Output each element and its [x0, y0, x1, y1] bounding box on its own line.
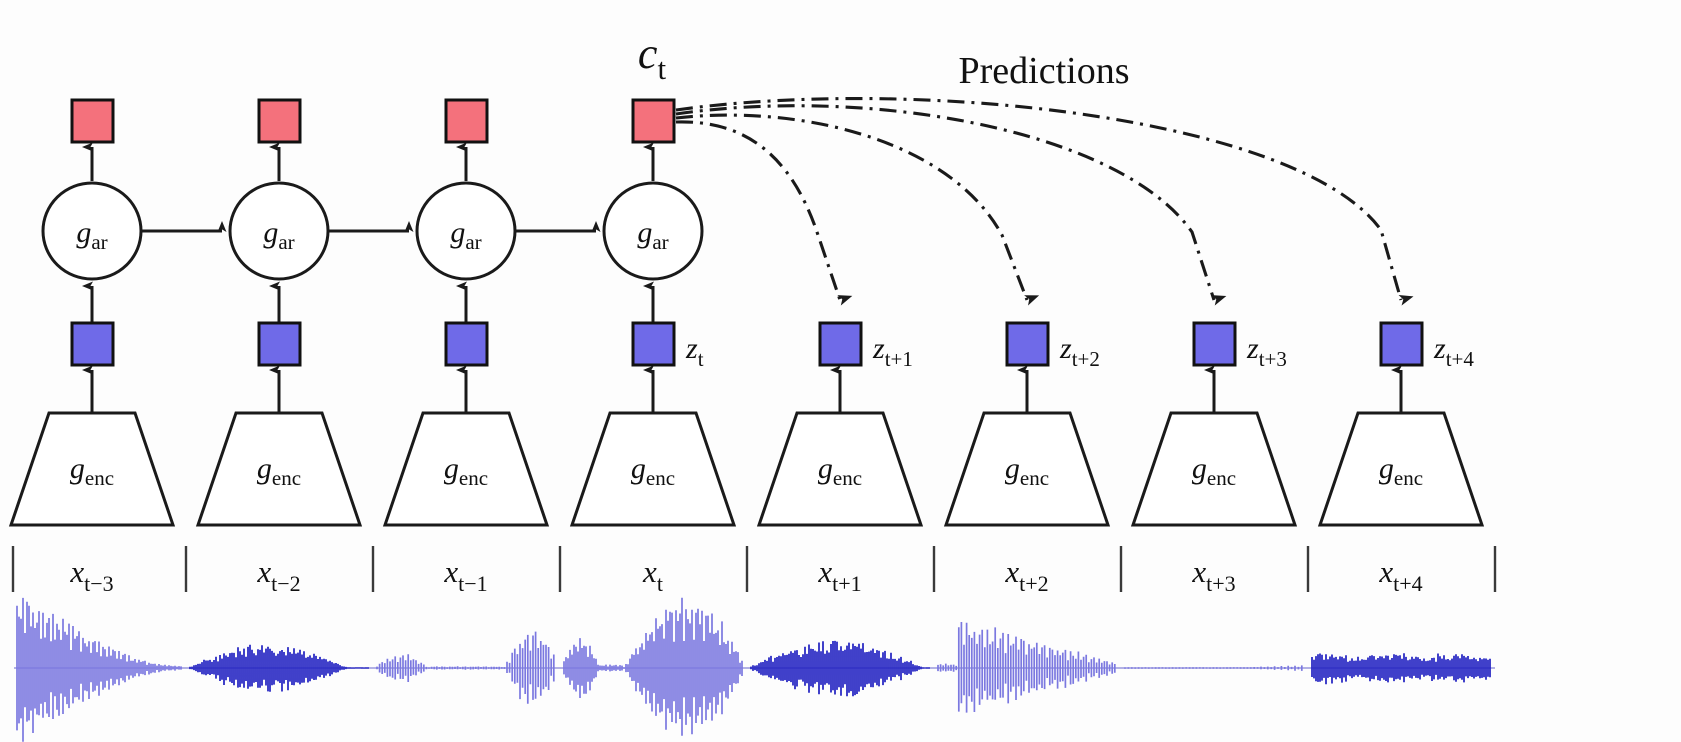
z-label: zt — [685, 332, 704, 371]
waveform-segment — [938, 622, 1115, 713]
x-label: xt+2 — [1004, 554, 1048, 596]
latent-square — [820, 323, 861, 365]
waveform-segment — [564, 598, 742, 736]
predictions-label: Predictions — [959, 50, 1130, 92]
column-group: zt+1 genc xt+1 — [759, 323, 921, 596]
context-vector-label: ct — [638, 29, 667, 86]
latent-square — [1381, 323, 1422, 365]
segment-separators-group — [13, 546, 1495, 592]
x-label: xt+1 — [817, 554, 861, 596]
column-group: zt+2 genc xt+2 — [946, 323, 1108, 596]
column-group: gar zt genc xt — [572, 100, 734, 596]
column-group: gar genc xt−2 — [198, 100, 360, 596]
prediction-arcs-group — [676, 99, 1401, 300]
waveform-segment — [17, 598, 181, 742]
latent-square — [72, 323, 113, 365]
waveform-segment — [377, 632, 554, 704]
waveform-segment — [1125, 665, 1302, 671]
waveform-segment — [1312, 653, 1490, 684]
latent-square — [1194, 323, 1235, 365]
column-group: gar genc xt−1 — [385, 100, 547, 596]
x-label: xt−3 — [69, 554, 113, 596]
latent-square — [446, 323, 487, 365]
z-label: zt+3 — [1246, 332, 1287, 371]
column-group: gar genc xt−3 — [11, 100, 173, 596]
prediction-arc-4 — [676, 99, 1401, 300]
latent-square — [633, 323, 674, 365]
x-label: xt+4 — [1378, 554, 1422, 596]
context-square — [259, 100, 300, 142]
audio-waveform — [14, 598, 1495, 742]
z-label: zt+1 — [872, 332, 913, 371]
z-label: zt+4 — [1433, 332, 1474, 371]
column-group: zt+3 genc xt+3 — [1133, 323, 1295, 596]
context-square — [72, 100, 113, 142]
prediction-arc-2 — [676, 115, 1027, 300]
x-label: xt+3 — [1191, 554, 1235, 596]
z-label: zt+2 — [1059, 332, 1100, 371]
prediction-arc-1 — [676, 122, 840, 300]
cpc-architecture-figure: gar genc xt−3 gar genc xt−2 gar — [0, 0, 1681, 742]
diagram-canvas: gar genc xt−3 gar genc xt−2 gar — [0, 0, 1681, 742]
latent-square — [259, 323, 300, 365]
x-label: xt−2 — [256, 554, 300, 596]
prediction-arc-3 — [676, 106, 1214, 300]
latent-square — [1007, 323, 1048, 365]
context-square — [446, 100, 487, 142]
context-square-ct — [633, 100, 674, 142]
column-group: zt+4 genc xt+4 — [1320, 323, 1482, 596]
x-label: xt−1 — [443, 554, 487, 596]
x-label: xt — [642, 554, 663, 596]
